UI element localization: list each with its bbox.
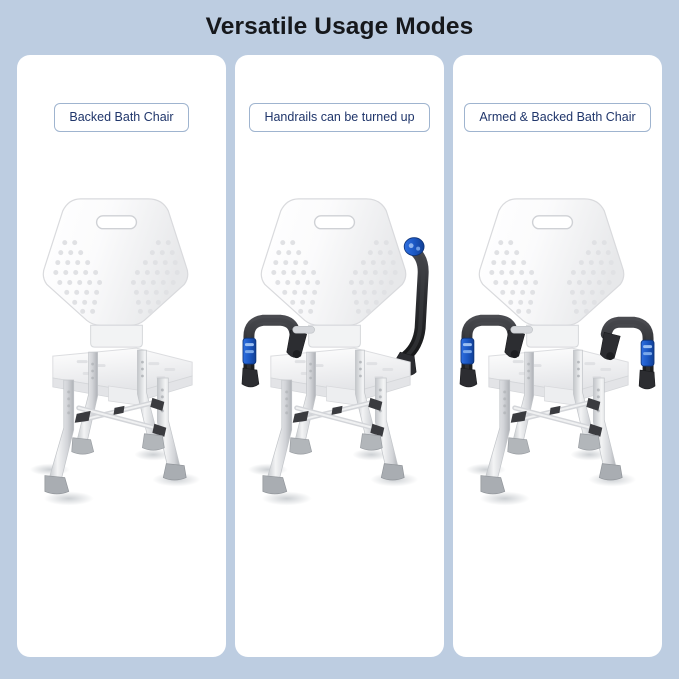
panel-armed-backed-bath-chair[interactable]: Armed & Backed Bath Chair <box>453 55 662 657</box>
mode-label-3: Armed & Backed Bath Chair <box>464 103 650 132</box>
mode-label-2: Handrails can be turned up <box>249 103 429 132</box>
label-container: Armed & Backed Bath Chair <box>453 103 662 132</box>
chair-graphic-backrest-only <box>17 180 226 580</box>
product-illustration-3 <box>453 180 662 580</box>
backrest <box>43 199 188 347</box>
backrest-mount <box>309 325 361 347</box>
leg-front-left <box>267 380 292 482</box>
leg-front-left <box>49 380 74 482</box>
page-title: Versatile Usage Modes <box>0 12 679 42</box>
panel-backed-bath-chair[interactable]: Backed Bath Chair <box>17 55 226 657</box>
chair-graphic-handrail-flip-up <box>235 180 444 580</box>
backrest-mount <box>91 325 143 347</box>
backrest-handle-slot <box>533 216 573 229</box>
leg-front-left <box>485 380 510 482</box>
armrest-adjust-rod[interactable] <box>511 326 533 333</box>
product-illustration-2 <box>235 180 444 580</box>
backrest-mount <box>527 325 579 347</box>
product-illustration-1 <box>17 180 226 580</box>
label-container: Handrails can be turned up <box>235 103 444 132</box>
chair-graphic-arms-and-back <box>453 180 662 580</box>
label-container: Backed Bath Chair <box>17 103 226 132</box>
handrail-adjust-rod[interactable] <box>293 326 315 333</box>
armrest-bracket <box>460 368 477 387</box>
infographic-page: Versatile Usage Modes Backed Bath Chair <box>0 0 679 679</box>
backrest-handle-slot <box>315 216 355 229</box>
handrail-lock-knob[interactable] <box>404 238 424 256</box>
panel-handrails-turned-up[interactable]: Handrails can be turned up <box>235 55 444 657</box>
armrest-bracket <box>639 370 655 389</box>
backrest-handle-slot <box>97 216 137 229</box>
mode-label-1: Backed Bath Chair <box>54 103 188 132</box>
panel-row: Backed Bath Chair <box>17 55 662 657</box>
handrail-bracket <box>242 368 259 387</box>
